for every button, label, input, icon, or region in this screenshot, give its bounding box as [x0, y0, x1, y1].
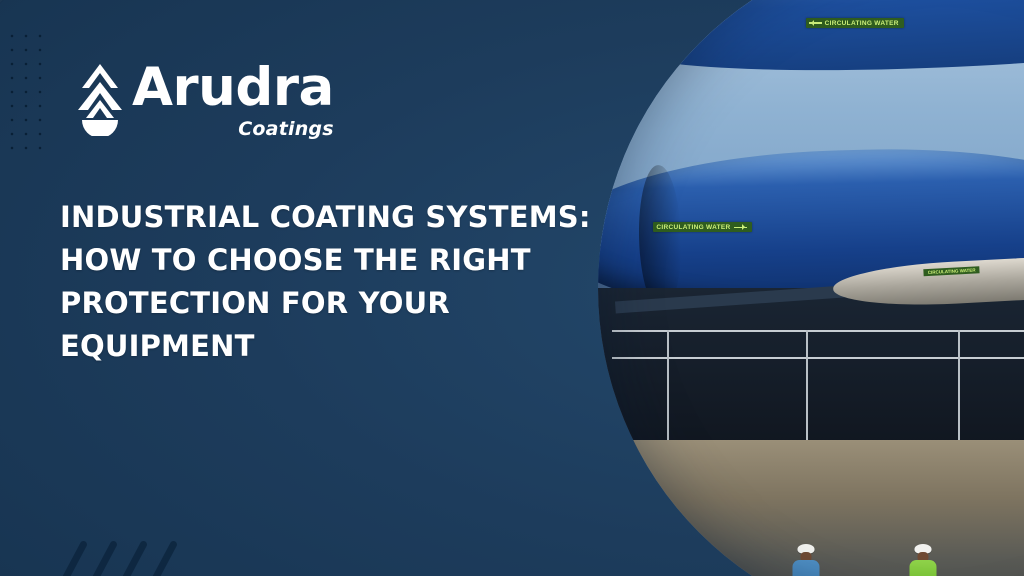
headline-line-3: PROTECTION FOR YOUR [60, 282, 580, 325]
photo-pipe-label-top: CIRCULATING WATER [806, 18, 904, 28]
diagonal-bar [60, 540, 88, 576]
headline-line-2: HOW TO CHOOSE THE RIGHT [60, 239, 580, 282]
photo-railing [612, 357, 1024, 359]
photo-railing [612, 330, 1024, 332]
photo-railing-post [667, 330, 669, 441]
photo-machinery-band [598, 288, 1024, 454]
photo-railing-post [958, 330, 960, 441]
worker-torso [910, 560, 937, 576]
banner-hero: CIRCULATING WATER CIRCULATING WATER CIRC [0, 0, 1024, 576]
pipe-label-text: CIRCULATING WATER [656, 224, 730, 231]
diagonal-bar [90, 540, 118, 576]
brand-tagline: Coatings [132, 118, 334, 140]
headline-line-1: INDUSTRIAL COATING SYSTEMS: [60, 196, 580, 239]
headline: INDUSTRIAL COATING SYSTEMS: HOW TO CHOOS… [60, 196, 580, 368]
photo-pipe-label-middle: CIRCULATING WATER [653, 222, 751, 232]
dot-grid-top-left-icon [0, 26, 42, 158]
brand-wordmark: Arudra Coatings [132, 62, 334, 140]
diagonal-bars-accent [58, 530, 188, 576]
pipe-label-text: CIRCULATING WATER [825, 20, 899, 27]
photo-railing-post [806, 330, 808, 441]
arrow-right-icon [734, 227, 747, 229]
brand-name: Arudra [132, 62, 334, 114]
hero-photo-circle: CIRCULATING WATER CIRCULATING WATER CIRC [598, 0, 1024, 576]
photo-pipe-tag: CIRCULATING WATER [924, 266, 980, 276]
brand-logo[interactable]: Arudra Coatings [74, 62, 334, 140]
arrow-left-icon [809, 22, 822, 24]
hero-photo: CIRCULATING WATER CIRCULATING WATER CIRC [598, 0, 1024, 576]
worker-torso [792, 560, 819, 576]
diagonal-bar [150, 540, 178, 576]
stacked-chevron-mark-icon [74, 62, 126, 136]
diagonal-bar [120, 540, 148, 576]
headline-line-4: EQUIPMENT [60, 325, 580, 368]
